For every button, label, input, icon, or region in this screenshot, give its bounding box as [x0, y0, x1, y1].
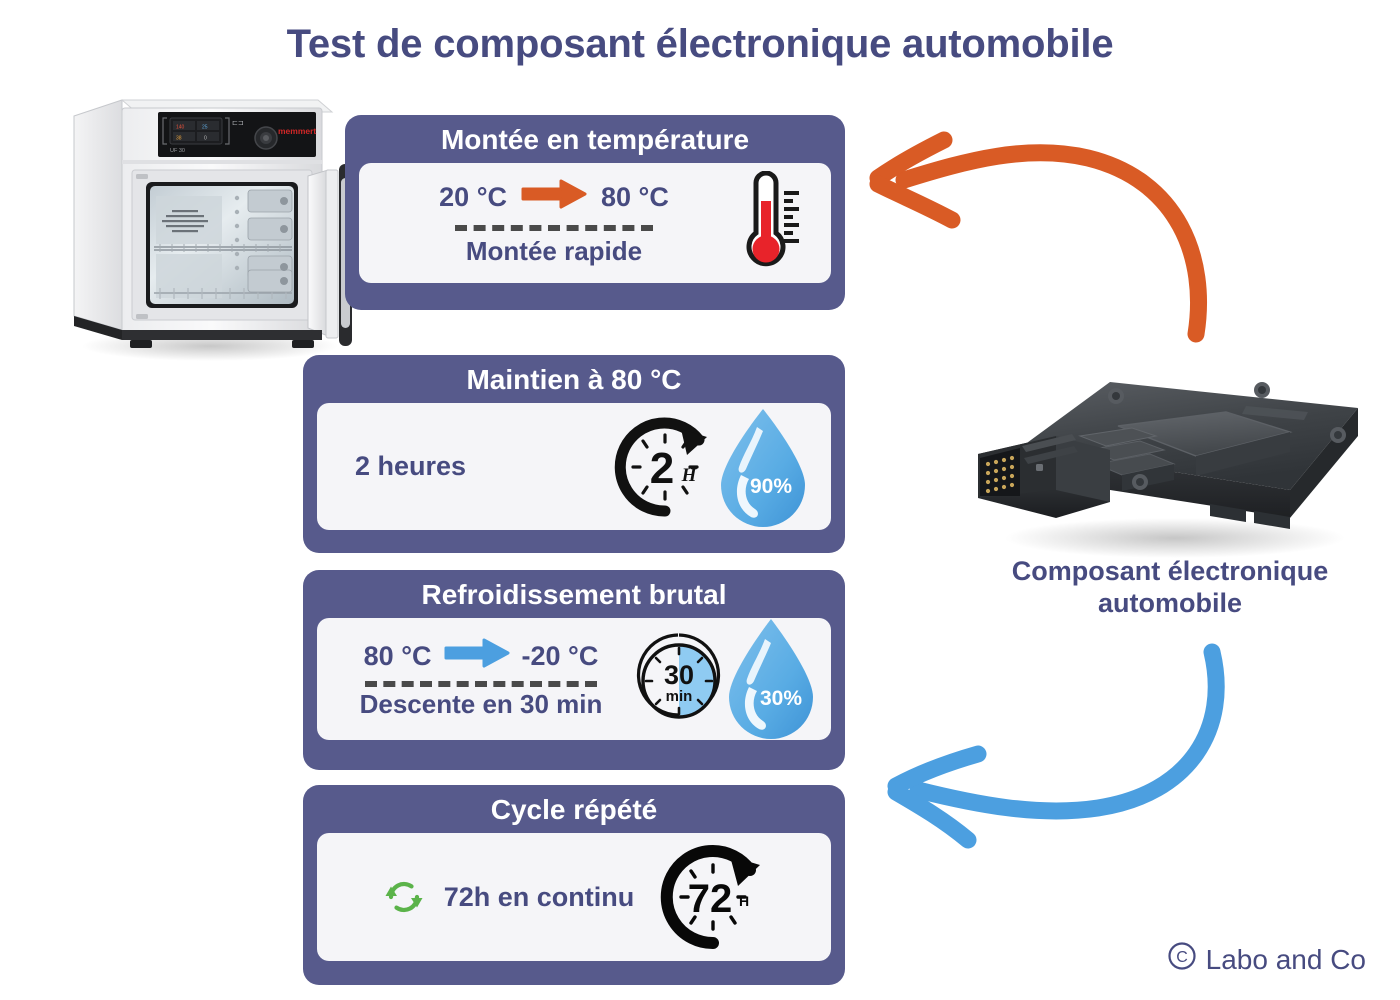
recycle-arrows-icon — [380, 875, 428, 919]
timer-value-30: 30 — [664, 660, 694, 690]
clock-value-72: 72 — [688, 877, 733, 921]
arrow-right-orange-icon — [521, 179, 587, 216]
timer-unit-min: min — [666, 688, 693, 705]
card-header-4: Cycle répété — [303, 785, 845, 833]
page-title: Test de composant électronique automobil… — [0, 22, 1400, 67]
copyright-icon: C — [1167, 941, 1197, 978]
cycle-duration-label: 72h en continu — [444, 882, 635, 913]
humidity-value-90: 90% — [750, 475, 792, 498]
water-drop-icon: 30% — [725, 615, 817, 743]
thermometer-icon — [733, 171, 815, 275]
card1-text-block: 20 °C 80 °C Montée rapide — [375, 179, 733, 267]
automotive-ecu-icon — [960, 340, 1380, 565]
to-temperature-3: -20 °C — [522, 641, 599, 672]
card-header-1: Montée en température — [345, 115, 845, 163]
svg-text:⊏⊐: ⊏⊐ — [232, 120, 244, 127]
clock-value-2: 2 — [650, 444, 674, 493]
ecu-caption-line2: automobile — [950, 587, 1390, 619]
card-body-2: 2 heures — [317, 403, 831, 530]
divider-dashed-3 — [365, 681, 597, 687]
laboratory-oven-icon: 140 25 38 0 UF 30 ⊏⊐ memmert — [60, 78, 370, 363]
ecu-caption: Composant électronique automobile — [950, 555, 1390, 620]
humidity-value-30: 30% — [760, 687, 802, 710]
brand-name: Labo and Co — [1206, 944, 1366, 976]
water-drop-icon: 90% — [715, 405, 811, 529]
from-temperature-3: 80 °C — [364, 641, 432, 672]
infographic-canvas: Test de composant électronique automobil… — [0, 0, 1400, 1000]
arrow-right-blue-icon — [444, 638, 510, 675]
card-hold-temperature: Maintien à 80 °C 2 heures — [303, 355, 845, 553]
svg-text:memmert: memmert — [278, 126, 316, 136]
card-body-3: 80 °C -20 °C Descente en 30 min — [317, 618, 831, 740]
card-header-2: Maintien à 80 °C — [303, 355, 845, 403]
card-rapid-cooling: Refroidissement brutal 80 °C -20 °C Desc… — [303, 570, 845, 770]
card-body-4: 72h en continu 72 H — [317, 833, 831, 961]
ecu-caption-line1: Composant électronique — [950, 555, 1390, 587]
svg-text:H: H — [739, 893, 749, 909]
svg-text:0: 0 — [204, 136, 207, 142]
card3-text-block: 80 °C -20 °C Descente en 30 min — [331, 638, 631, 720]
card-header-3: Refroidissement brutal — [303, 570, 845, 618]
from-temperature: 20 °C — [439, 182, 507, 213]
card-repeated-cycle: Cycle répété 72h en continu — [303, 785, 845, 985]
curved-arrow-blue-icon — [878, 618, 1268, 858]
svg-text:140: 140 — [176, 125, 185, 131]
ramp-note: Montée rapide — [466, 236, 642, 267]
svg-text:38: 38 — [176, 136, 182, 142]
svg-text:25: 25 — [202, 125, 208, 131]
svg-text:UF 30: UF 30 — [170, 148, 185, 154]
svg-text:C: C — [1176, 949, 1188, 966]
hold-duration-label: 2 heures — [355, 451, 466, 482]
clock-72h-icon: 72 H — [658, 844, 768, 950]
temperature-transition-row-3: 80 °C -20 °C — [364, 638, 599, 675]
cooling-note: Descente en 30 min — [360, 689, 603, 720]
to-temperature: 80 °C — [601, 182, 669, 213]
divider-dashed — [455, 225, 653, 231]
card-body-1: 20 °C 80 °C Montée rapide — [359, 163, 831, 283]
svg-text:H: H — [681, 465, 698, 486]
card-temperature-ramp: Montée en température 20 °C 80 °C Montée… — [345, 115, 845, 310]
temperature-transition-row: 20 °C 80 °C — [439, 179, 669, 216]
stopwatch-30min-icon: 30 min — [631, 629, 727, 729]
footer-credit: C Labo and Co — [1167, 941, 1366, 978]
curved-arrow-orange-icon — [858, 108, 1228, 348]
clock-2h-icon: 2 H — [611, 415, 719, 519]
